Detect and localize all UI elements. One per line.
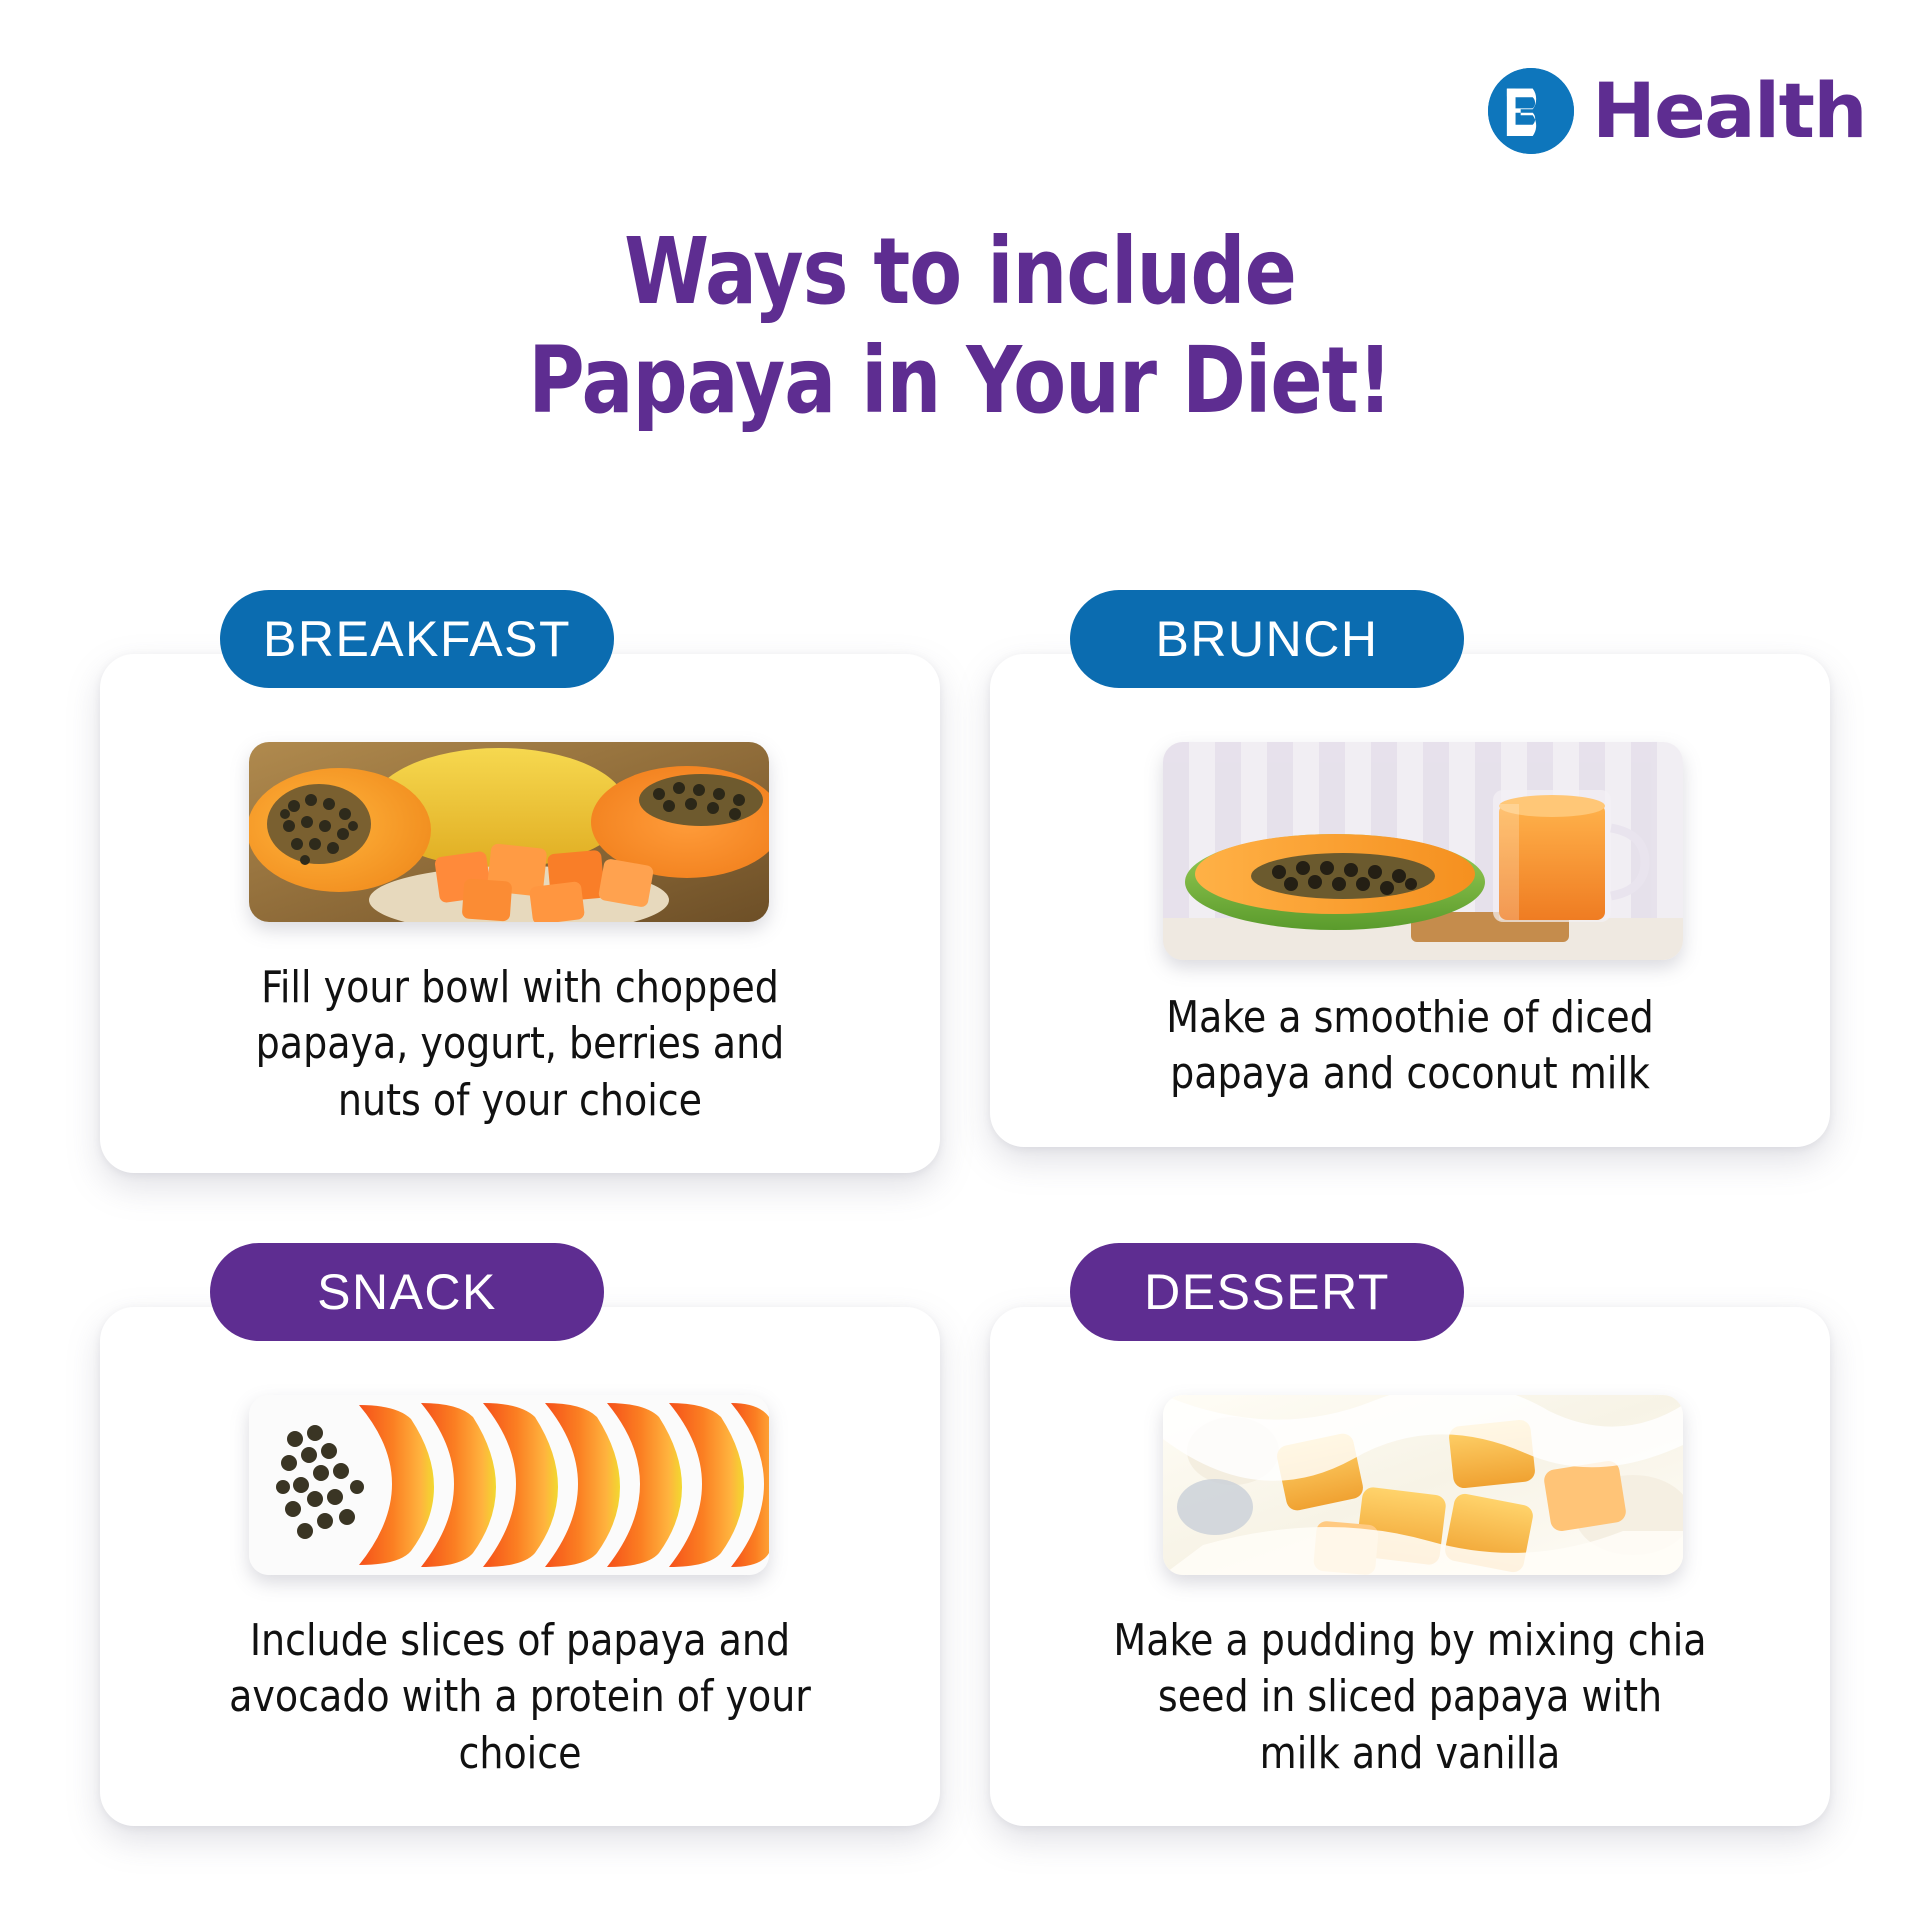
- pill-breakfast: BREAKFAST: [220, 590, 614, 688]
- papaya-slices-row-photo: [249, 1395, 769, 1575]
- papaya-smoothie-glass-photo: [1163, 742, 1683, 960]
- card-body-dessert: Make a pudding by mixing chia seed in sl…: [990, 1307, 1830, 1826]
- card-brunch: BRUNCH: [990, 590, 1830, 1173]
- page-title-line-2: Papaya in Your Diet!: [67, 327, 1853, 436]
- infographic-page: Health Ways to include Papaya in Your Di…: [0, 0, 1920, 1920]
- bajaj-b-logo-icon: [1488, 68, 1574, 154]
- card-breakfast: BREAKFAST: [100, 590, 940, 1173]
- pill-dessert: DESSERT: [1070, 1243, 1464, 1341]
- papaya-chia-pudding-photo: [1163, 1395, 1683, 1575]
- caption-dessert: Make a pudding by mixing chia seed in sl…: [1112, 1613, 1707, 1782]
- pill-snack: SNACK: [210, 1243, 604, 1341]
- caption-snack: Include slices of papaya and avocado wit…: [222, 1613, 817, 1782]
- cards-grid: BREAKFAST: [100, 590, 1830, 1826]
- card-body-breakfast: Fill your bowl with chopped papaya, yogu…: [100, 654, 940, 1173]
- page-title-line-1: Ways to include: [624, 218, 1296, 325]
- caption-brunch: Make a smoothie of diced papaya and coco…: [1112, 990, 1707, 1103]
- card-snack: SNACK: [100, 1243, 940, 1826]
- card-body-brunch: Make a smoothie of diced papaya and coco…: [990, 654, 1830, 1147]
- brand-logo: Health: [1488, 68, 1866, 154]
- caption-breakfast: Fill your bowl with chopped papaya, yogu…: [222, 960, 817, 1129]
- pill-brunch: BRUNCH: [1070, 590, 1464, 688]
- card-body-snack: Include slices of papaya and avocado wit…: [100, 1307, 940, 1826]
- card-dessert: DESSERT: [990, 1243, 1830, 1826]
- page-title: Ways to include Papaya in Your Diet!: [67, 218, 1853, 435]
- papaya-halves-and-chunks-photo: [249, 742, 769, 922]
- brand-wordmark: Health: [1592, 73, 1866, 149]
